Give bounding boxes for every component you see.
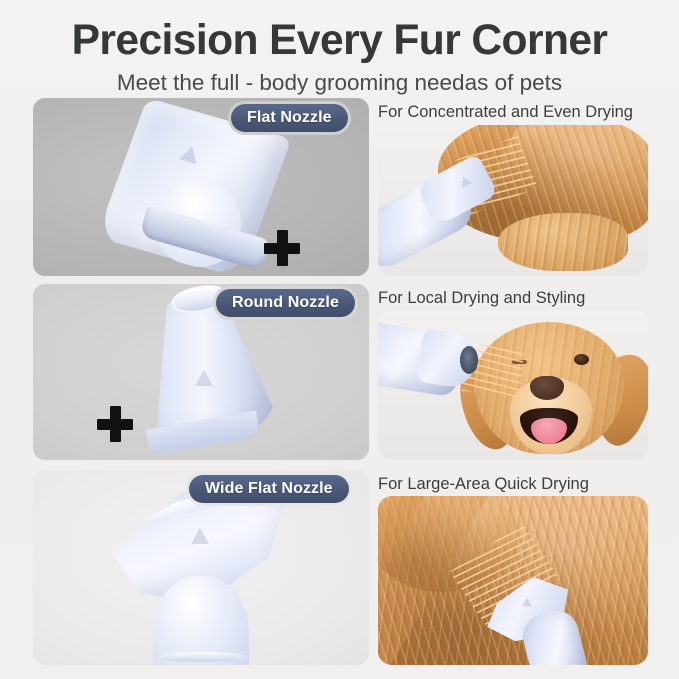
plus-icon-row2: + xyxy=(97,406,133,442)
brand-triangle-icon-row3 xyxy=(191,528,209,544)
row-round-nozzle: + Round Nozzle For Local Drying and Styl… xyxy=(0,284,679,470)
nozzle-rows: + Flat Nozzle For Concentrated and Even … xyxy=(0,98,679,665)
wide-flat-nozzle-ring xyxy=(157,652,245,662)
brand-triangle-icon-row2 xyxy=(195,370,213,386)
photo-flat-nozzle xyxy=(378,125,648,276)
dryer-nozzle-opening-row2 xyxy=(460,346,478,374)
badge-wide-flat-nozzle[interactable]: Wide Flat Nozzle xyxy=(186,472,352,506)
page-title: Precision Every Fur Corner xyxy=(3,14,675,66)
caption-wide-flat-nozzle: For Large-Area Quick Drying xyxy=(378,474,589,494)
row-flat-nozzle: + Flat Nozzle For Concentrated and Even … xyxy=(0,98,679,284)
page-subtitle: Meet the full - body grooming needas of … xyxy=(0,68,679,98)
photo-round-nozzle xyxy=(378,310,648,460)
badge-flat-nozzle-label: Flat Nozzle xyxy=(231,104,348,132)
dog-eye-open xyxy=(574,354,589,365)
row-wide-flat-nozzle: Wide Flat Nozzle For Large-Area Quick Dr… xyxy=(0,470,679,665)
photo-content-row2 xyxy=(378,310,648,460)
badge-wide-flat-nozzle-label: Wide Flat Nozzle xyxy=(189,475,349,503)
dog-paw-texture-row1 xyxy=(498,213,628,271)
badge-flat-nozzle[interactable]: Flat Nozzle xyxy=(228,101,351,135)
caption-round-nozzle: For Local Drying and Styling xyxy=(378,288,585,308)
caption-flat-nozzle: For Concentrated and Even Drying xyxy=(378,102,633,122)
badge-round-nozzle[interactable]: Round Nozzle xyxy=(213,286,358,320)
header: Precision Every Fur Corner Meet the full… xyxy=(0,0,679,98)
photo-content-row3 xyxy=(378,496,648,665)
brand-triangle-icon-row3b xyxy=(522,598,532,607)
badge-round-nozzle-label: Round Nozzle xyxy=(216,289,355,317)
plus-icon-row1: + xyxy=(264,230,300,266)
photo-content-row1 xyxy=(378,125,648,276)
photo-wide-flat-nozzle xyxy=(378,496,648,665)
